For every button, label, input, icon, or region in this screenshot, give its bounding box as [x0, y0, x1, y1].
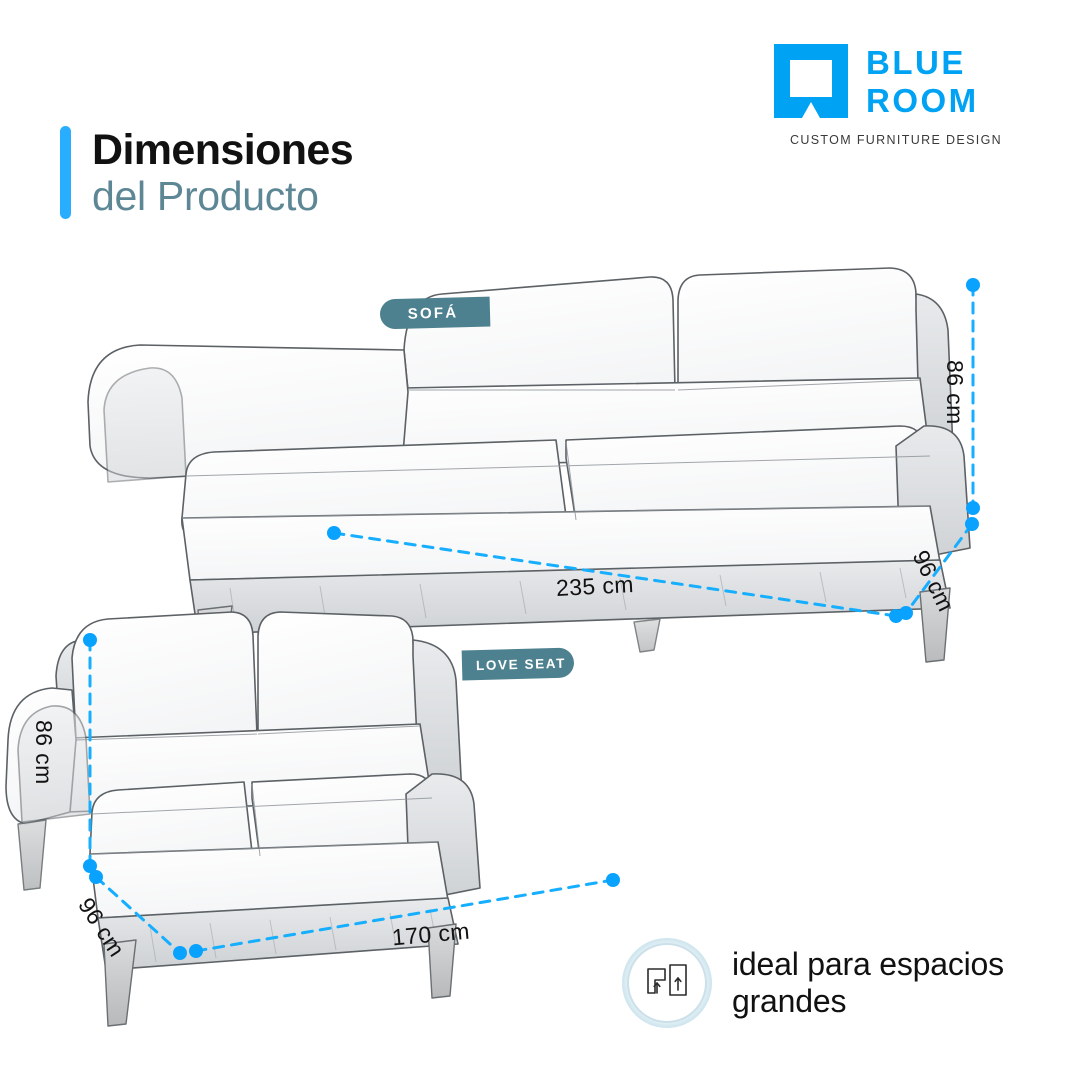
loveseat-illustration [0, 600, 700, 980]
footer-note: ideal para espacios grandes [622, 938, 1004, 1028]
infographic-page: BLUE ROOM CUSTOM FURNITURE DESIGN Dimens… [0, 0, 1080, 1080]
page-title: Dimensiones del Producto [60, 126, 353, 219]
logo-row: BLUE ROOM [770, 38, 1022, 124]
brand-logo: BLUE ROOM CUSTOM FURNITURE DESIGN [770, 38, 1022, 160]
title-text-group: Dimensiones del Producto [92, 126, 353, 219]
logo-wordmark: BLUE ROOM [866, 45, 979, 117]
sofa-illustration [0, 250, 1080, 650]
title-subtitle: del Producto [92, 174, 353, 220]
footer-note-line2: grandes [732, 983, 1004, 1020]
floor-plan-space-icon [622, 938, 712, 1028]
logo-word-blue: BLUE [866, 47, 979, 79]
title-main: Dimensiones [92, 128, 353, 174]
footer-note-text: ideal para espacios grandes [732, 946, 1004, 1021]
badge-love-seat: LOVE SEAT [462, 648, 575, 681]
title-accent-bar [60, 126, 71, 219]
logo-word-room: ROOM [866, 85, 979, 117]
badge-sofa: SOFÁ [380, 297, 491, 330]
brand-tagline: CUSTOM FURNITURE DESIGN [770, 133, 1022, 147]
blue-room-logo-mark-icon [770, 40, 852, 122]
footer-note-line1: ideal para espacios [732, 946, 1004, 982]
